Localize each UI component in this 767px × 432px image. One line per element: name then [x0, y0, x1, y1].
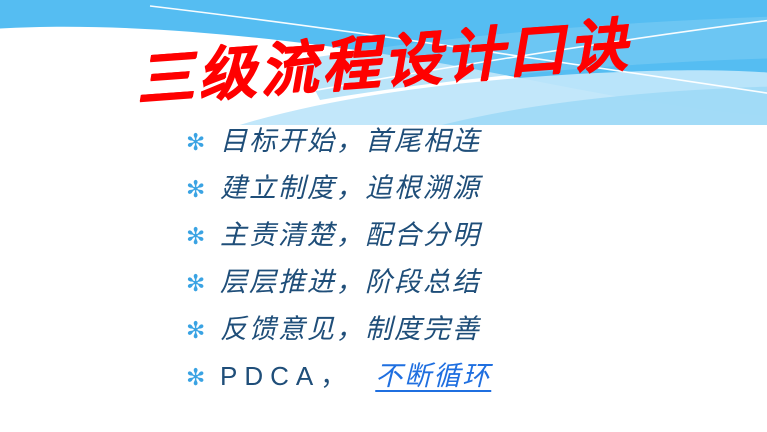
header-banner	[0, 0, 767, 125]
list-item-pdca: ✻ PDCA， 不断循环	[186, 363, 746, 410]
hyperlink-continuous-cycle[interactable]: 不断循环	[375, 363, 491, 390]
list-item: ✻ 层层推进，阶段总结	[186, 269, 746, 316]
list-item: ✻ 主责清楚，配合分明	[186, 222, 746, 269]
asterisk-bullet-icon: ✻	[186, 320, 220, 343]
list-item-text: 层层推进，阶段总结	[220, 269, 481, 296]
asterisk-bullet-icon: ✻	[186, 226, 220, 249]
list-item: ✻ 目标开始，首尾相连	[186, 128, 746, 175]
mnemonic-list: ✻ 目标开始，首尾相连 ✻ 建立制度，追根溯源 ✻ 主责清楚，配合分明 ✻ 层层…	[186, 128, 746, 410]
list-item: ✻ 反馈意见，制度完善	[186, 316, 746, 363]
list-item-text: 反馈意见，制度完善	[220, 316, 481, 343]
banner-wave-graphic	[0, 0, 767, 125]
asterisk-bullet-icon: ✻	[186, 179, 220, 202]
asterisk-bullet-icon: ✻	[186, 132, 220, 155]
slide-canvas: 三级流程设计口诀 ✻ 目标开始，首尾相连 ✻ 建立制度，追根溯源 ✻ 主责清楚，…	[0, 0, 767, 432]
asterisk-bullet-icon: ✻	[186, 273, 220, 296]
list-item-text: 主责清楚，配合分明	[220, 222, 481, 249]
list-item-text: PDCA，	[220, 363, 353, 389]
asterisk-bullet-icon: ✻	[186, 367, 220, 390]
list-item-text: 建立制度，追根溯源	[220, 175, 481, 202]
list-item-text: 目标开始，首尾相连	[220, 128, 481, 155]
list-item: ✻ 建立制度，追根溯源	[186, 175, 746, 222]
